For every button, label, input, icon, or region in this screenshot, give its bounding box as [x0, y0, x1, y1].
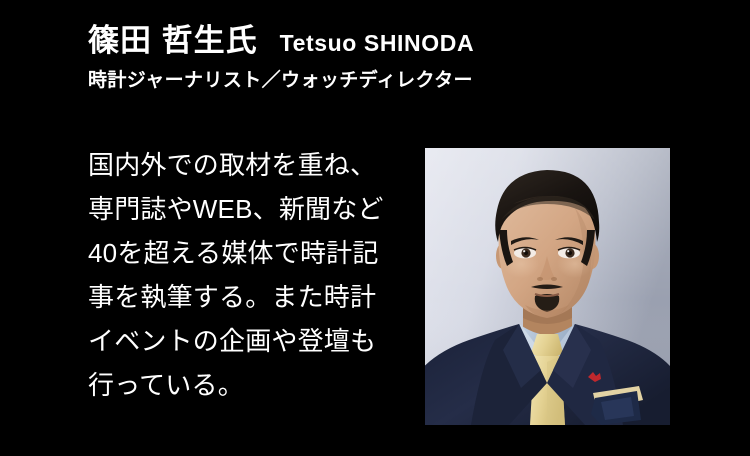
- portrait-illustration: [425, 148, 670, 425]
- name-row: 篠田 哲生氏 Tetsuo SHINODA: [88, 22, 688, 60]
- bio-line: 国内外での取材を重ね、: [88, 143, 418, 187]
- bio-line: イベントの企画や登壇も: [88, 319, 418, 363]
- bio-line: 専門誌やWEB、新聞など: [88, 187, 418, 231]
- job-title: 時計ジャーナリスト／ウォッチディレクター: [88, 69, 688, 93]
- bio-line: 40を超える媒体で時計記: [88, 231, 418, 275]
- profile-card: 篠田 哲生氏 Tetsuo SHINODA 時計ジャーナリスト／ウォッチディレク…: [0, 0, 750, 456]
- bio-line: 事を執筆する。また時計: [88, 275, 418, 319]
- profile-header: 篠田 哲生氏 Tetsuo SHINODA 時計ジャーナリスト／ウォッチディレク…: [88, 22, 688, 93]
- name-japanese: 篠田 哲生氏: [88, 22, 258, 60]
- biography-text: 国内外での取材を重ね、 専門誌やWEB、新聞など 40を超える媒体で時計記 事を…: [88, 143, 418, 407]
- name-romanized: Tetsuo SHINODA: [280, 29, 475, 57]
- bio-line: 行っている。: [88, 363, 418, 407]
- portrait-photo: [425, 148, 670, 425]
